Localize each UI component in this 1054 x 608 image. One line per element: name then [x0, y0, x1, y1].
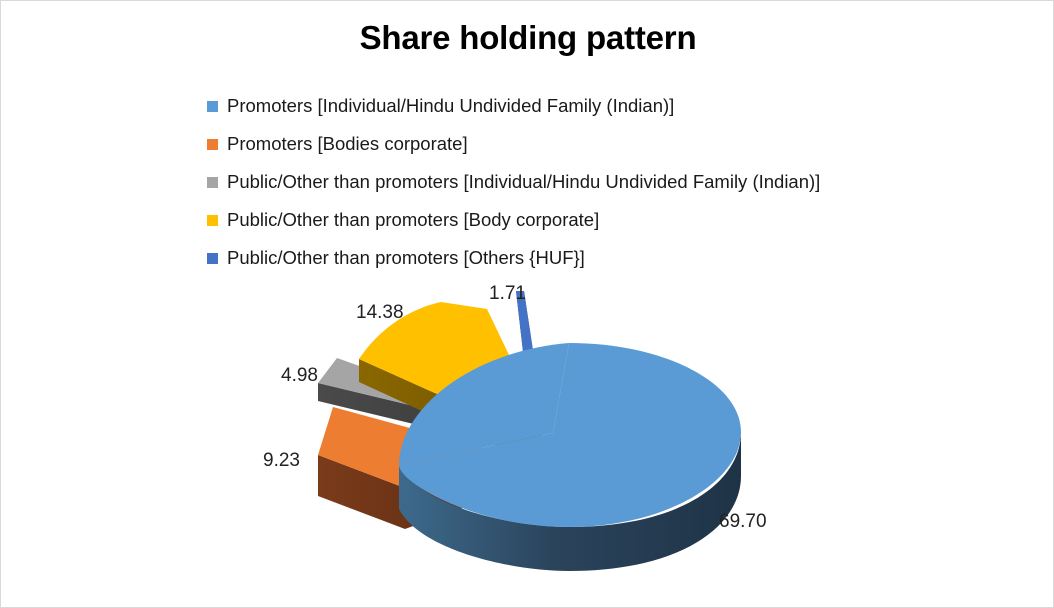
legend-item-promoters-bodies-corporate[interactable]: Promoters [Bodies corporate]	[207, 125, 947, 163]
data-label-gray: 4.98	[281, 365, 318, 387]
pie-chart-plot-area: 1.71 14.38 4.98 9.23 69.70	[1, 261, 1054, 608]
chart-canvas: Share holding pattern Promoters [Individ…	[0, 0, 1054, 608]
legend-item-public-individual[interactable]: Public/Other than promoters [Individual/…	[207, 163, 947, 201]
data-label-orange: 9.23	[263, 450, 300, 472]
legend-item-label: Public/Other than promoters [Body corpor…	[227, 211, 599, 230]
legend-swatch-icon	[207, 101, 218, 112]
data-label-darkblue: 1.71	[489, 283, 526, 305]
legend-item-public-body-corporate[interactable]: Public/Other than promoters [Body corpor…	[207, 201, 947, 239]
legend-swatch-icon	[207, 139, 218, 150]
data-label-blue: 69.70	[719, 511, 767, 533]
legend-item-label: Public/Other than promoters [Individual/…	[227, 173, 820, 192]
legend-item-promoters-individual[interactable]: Promoters [Individual/Hindu Undivided Fa…	[207, 87, 947, 125]
chart-legend: Promoters [Individual/Hindu Undivided Fa…	[207, 87, 947, 277]
pie-chart-svg	[1, 261, 1054, 608]
legend-item-label: Promoters [Bodies corporate]	[227, 135, 468, 154]
legend-swatch-icon	[207, 177, 218, 188]
legend-swatch-icon	[207, 215, 218, 226]
legend-item-label: Promoters [Individual/Hindu Undivided Fa…	[227, 97, 674, 116]
page-title: Share holding pattern	[1, 19, 1054, 57]
data-label-yellow: 14.38	[356, 302, 404, 324]
